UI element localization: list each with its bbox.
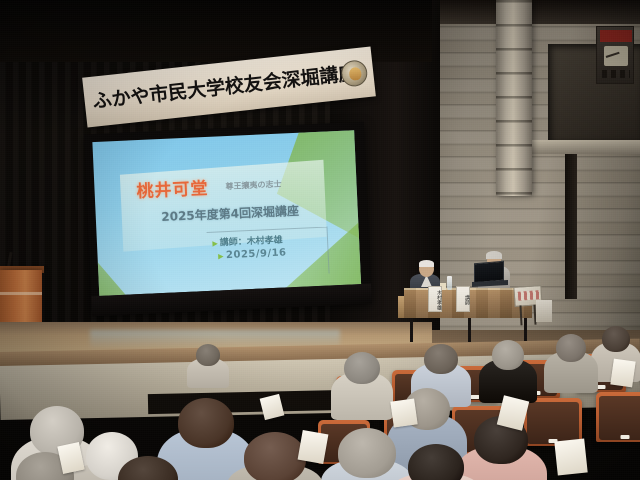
table-leg: [410, 318, 413, 342]
handout-paper: [298, 430, 329, 464]
seat-back: [527, 402, 579, 444]
name-placard-role: 講師: [456, 286, 470, 312]
upper-wall-shadow: [424, 0, 640, 24]
projected-slide: 桃井可堂 尊王攘夷の志士 2025年度第4回深堀講座 講師：木村孝雄 2025/…: [92, 130, 361, 296]
easel-legs: [519, 305, 536, 326]
white-bag: [536, 300, 552, 322]
audience-member-8-head: [344, 352, 380, 384]
wall-dark-strip: [565, 154, 577, 299]
water-bottle-icon: [447, 276, 452, 290]
seat-number-tag: [621, 435, 630, 439]
seat-back: [599, 396, 640, 440]
table-leg: [468, 318, 471, 342]
clock-buttons: [602, 70, 630, 78]
audience-member-3-head: [178, 398, 234, 448]
speaker-seated-hair: [419, 260, 434, 267]
clock-red-sign: [600, 30, 632, 42]
audience-member-11-head: [556, 334, 586, 362]
audience-member-16-head: [196, 344, 220, 366]
audience-member-5-head: [338, 428, 396, 478]
pit-vent: [148, 390, 348, 414]
name-placard-lecturer: 木村孝雄: [428, 286, 442, 312]
audience-member-10-head: [492, 340, 524, 370]
handout-paper: [390, 398, 417, 427]
projection-screen: 桃井可堂 尊王攘夷の志士 2025年度第4回深堀講座 講師：木村孝雄 2025/…: [84, 122, 372, 317]
audience-member-9-head: [424, 344, 458, 374]
slide-title: 桃井可堂: [136, 174, 209, 202]
wall-ledge: [530, 140, 640, 154]
handout-paper: [610, 359, 635, 388]
lecture-hall-photo: ふかや市民大学校友会深堀講座 桃井可堂 尊王攘夷の志士 2025年度第4回深堀講…: [0, 0, 640, 480]
audience-member-12-head: [602, 326, 630, 352]
operator-hair: [486, 251, 502, 259]
audience-member-4-head: [244, 432, 306, 480]
theater-seat: [596, 392, 640, 442]
handout-paper: [554, 439, 587, 476]
analog-wall-clock: [596, 26, 634, 84]
stepped-column: [496, 0, 532, 196]
